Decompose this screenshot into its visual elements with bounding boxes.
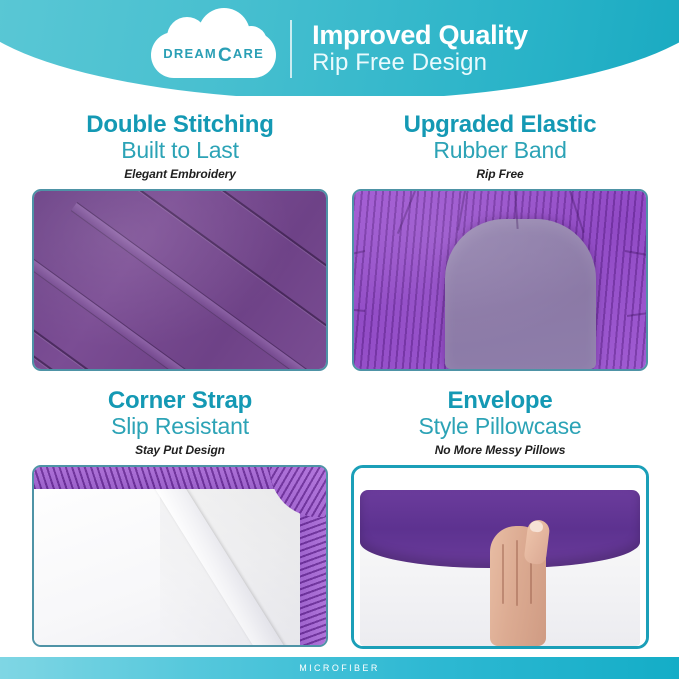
footer-label: MICROFIBER xyxy=(299,663,380,673)
panel-title: Double Stitching xyxy=(20,112,340,138)
panel-photo-double-stitching xyxy=(32,189,328,371)
panel-title: Upgraded Elastic xyxy=(340,112,660,138)
feature-panel-corner-strap: Corner Strap Slip Resistant Stay Put Des… xyxy=(20,388,340,647)
panel-heading-group: Corner Strap Slip Resistant Stay Put Des… xyxy=(20,388,340,457)
panel-title: Envelope xyxy=(340,388,660,414)
panel-subtitle: Style Pillowcase xyxy=(340,414,660,440)
panel-heading-group: Upgraded Elastic Rubber Band Rip Free xyxy=(340,112,660,181)
header-title: Improved Quality xyxy=(312,21,528,49)
panel-caption: No More Messy Pillows xyxy=(340,443,660,457)
brand-name-left: DREAM xyxy=(163,46,217,61)
feature-panel-grid: Double Stitching Built to Last Elegant E… xyxy=(0,96,679,656)
panel-subtitle: Slip Resistant xyxy=(20,414,340,440)
panel-heading-group: Double Stitching Built to Last Elegant E… xyxy=(20,112,340,181)
header-subtitle: Rip Free Design xyxy=(312,50,528,77)
panel-title: Corner Strap xyxy=(20,388,340,414)
footer-bar: MICROFIBER xyxy=(0,657,679,679)
feature-panel-upgraded-elastic: Upgraded Elastic Rubber Band Rip Free xyxy=(340,112,660,371)
panel-caption: Elegant Embroidery xyxy=(20,167,340,181)
fabric-sheen xyxy=(34,191,326,369)
finger-crease xyxy=(516,540,518,606)
brand-logo: DREAMCARE xyxy=(151,18,276,80)
panel-heading-group: Envelope Style Pillowcase No More Messy … xyxy=(340,388,660,457)
panel-caption: Rip Free xyxy=(340,167,660,181)
panel-caption: Stay Put Design xyxy=(20,443,340,457)
header-banner: DREAMCARE Improved Quality Rip Free Desi… xyxy=(0,0,679,96)
panel-subtitle: Built to Last xyxy=(20,138,340,164)
panel-subtitle: Rubber Band xyxy=(340,138,660,164)
header-divider xyxy=(290,20,292,78)
finger-crease xyxy=(502,544,504,604)
brand-name-right: ARE xyxy=(233,46,264,61)
crescent-moon-c-icon: C xyxy=(218,49,233,62)
panel-photo-envelope-pillowcase xyxy=(351,465,649,649)
panel-photo-fitted-sheet xyxy=(352,189,648,371)
panel-photo-corner-strap xyxy=(32,465,328,647)
brand-logo-text: DREAMCARE xyxy=(151,46,276,62)
feature-panel-double-stitching: Double Stitching Built to Last Elegant E… xyxy=(20,112,340,371)
feature-panel-envelope-pillowcase: Envelope Style Pillowcase No More Messy … xyxy=(340,388,660,649)
sheet-sheen xyxy=(354,191,646,369)
header-title-group: Improved Quality Rip Free Design xyxy=(312,21,528,76)
